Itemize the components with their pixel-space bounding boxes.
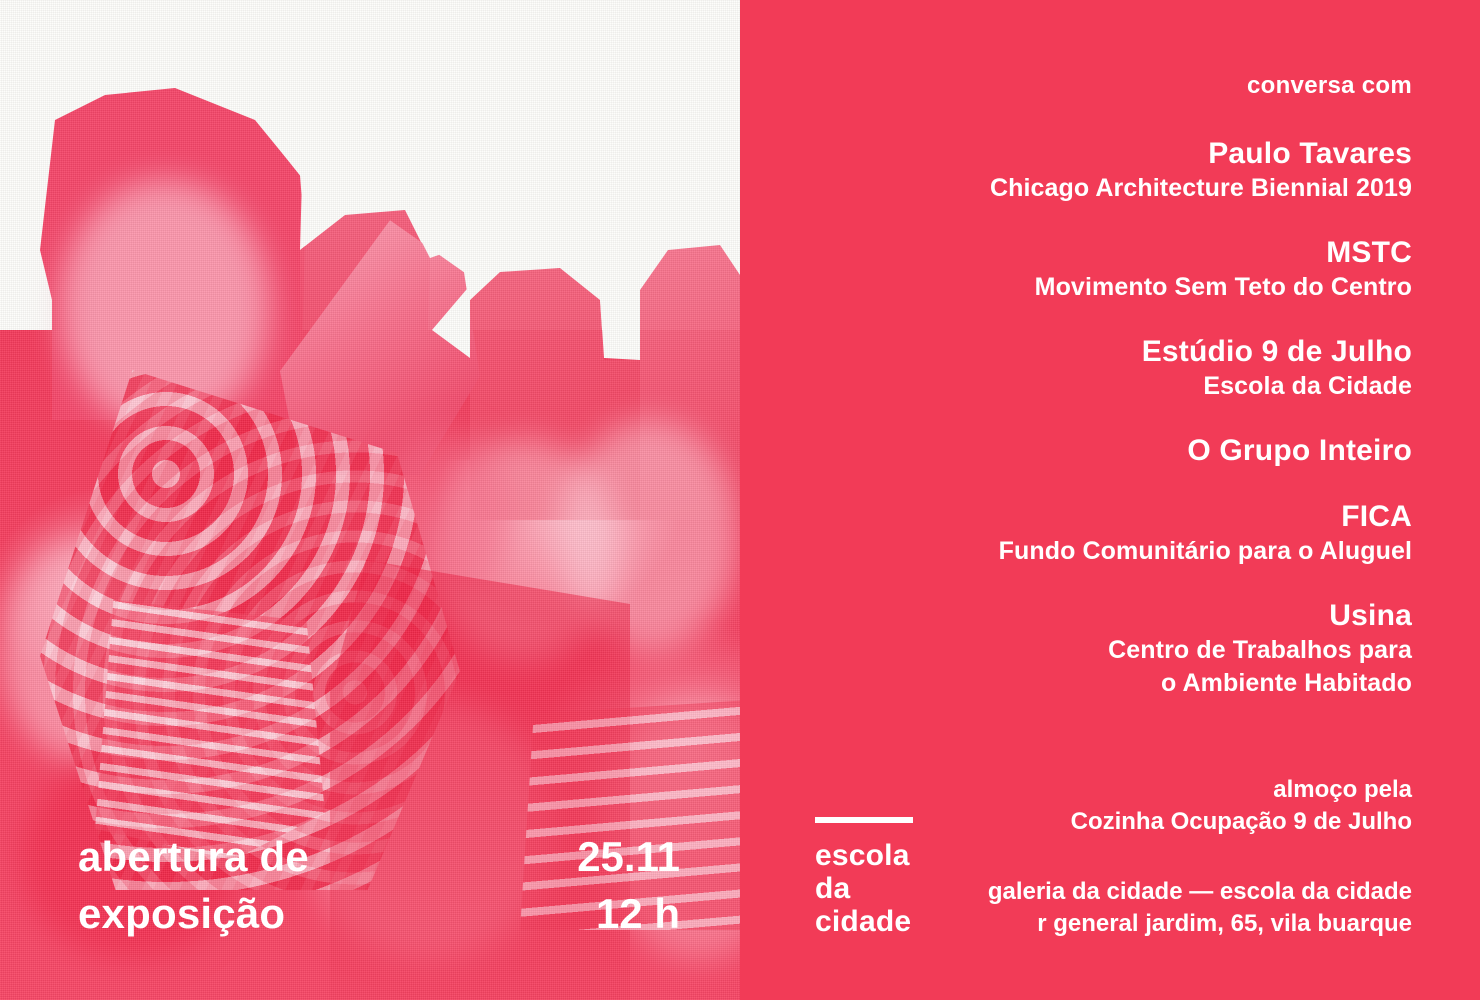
guest-entry: Estúdio 9 de Julho Escola da Cidade: [792, 334, 1412, 403]
lunch-credit: almoço pela Cozinha Ocupação 9 de Julho: [988, 774, 1412, 838]
guest-subtitle: Escola da Cidade: [792, 370, 1412, 403]
guest-name: O Grupo Inteiro: [792, 433, 1412, 469]
guest-name: Usina: [792, 598, 1412, 634]
guest-entry: FICA Fundo Comunitário para o Aluguel: [792, 499, 1412, 568]
guest-subtitle: Chicago Architecture Biennial 2019: [792, 172, 1412, 205]
logo-rule-icon: [815, 817, 913, 823]
conversa-label: conversa com: [1247, 72, 1412, 100]
logo-wordmark: escola da cidade: [815, 839, 1015, 938]
guest-name: Estúdio 9 de Julho: [792, 334, 1412, 370]
guest-name: MSTC: [792, 235, 1412, 271]
guest-entry: MSTC Movimento Sem Teto do Centro: [792, 235, 1412, 304]
info-panel: conversa com Paulo Tavares Chicago Archi…: [740, 0, 1480, 1000]
event-datetime: 25.11 12 h: [577, 828, 680, 942]
guest-list: Paulo Tavares Chicago Architecture Bienn…: [792, 136, 1412, 700]
venue-address: galeria da cidade — escola da cidade r g…: [988, 876, 1412, 940]
event-headline: abertura de exposição: [78, 828, 309, 942]
guest-entry: O Grupo Inteiro: [792, 433, 1412, 469]
guest-name: Paulo Tavares: [792, 136, 1412, 172]
guest-entry: Usina Centro de Trabalhos para o Ambient…: [792, 598, 1412, 700]
photo-striped-shirt: [95, 600, 325, 860]
guest-name: FICA: [792, 499, 1412, 535]
photo-panel: abertura de exposição 25.11 12 h: [0, 0, 740, 1000]
poster: abertura de exposição 25.11 12 h convers…: [0, 0, 1480, 1000]
guest-subtitle: Movimento Sem Teto do Centro: [792, 271, 1412, 304]
footer-info: almoço pela Cozinha Ocupação 9 de Julho …: [988, 774, 1412, 940]
guest-subtitle: Centro de Trabalhos para o Ambiente Habi…: [792, 634, 1412, 700]
guest-entry: Paulo Tavares Chicago Architecture Bienn…: [792, 136, 1412, 205]
guest-subtitle: Fundo Comunitário para o Aluguel: [792, 535, 1412, 568]
escola-da-cidade-logo: escola da cidade: [815, 817, 1015, 938]
